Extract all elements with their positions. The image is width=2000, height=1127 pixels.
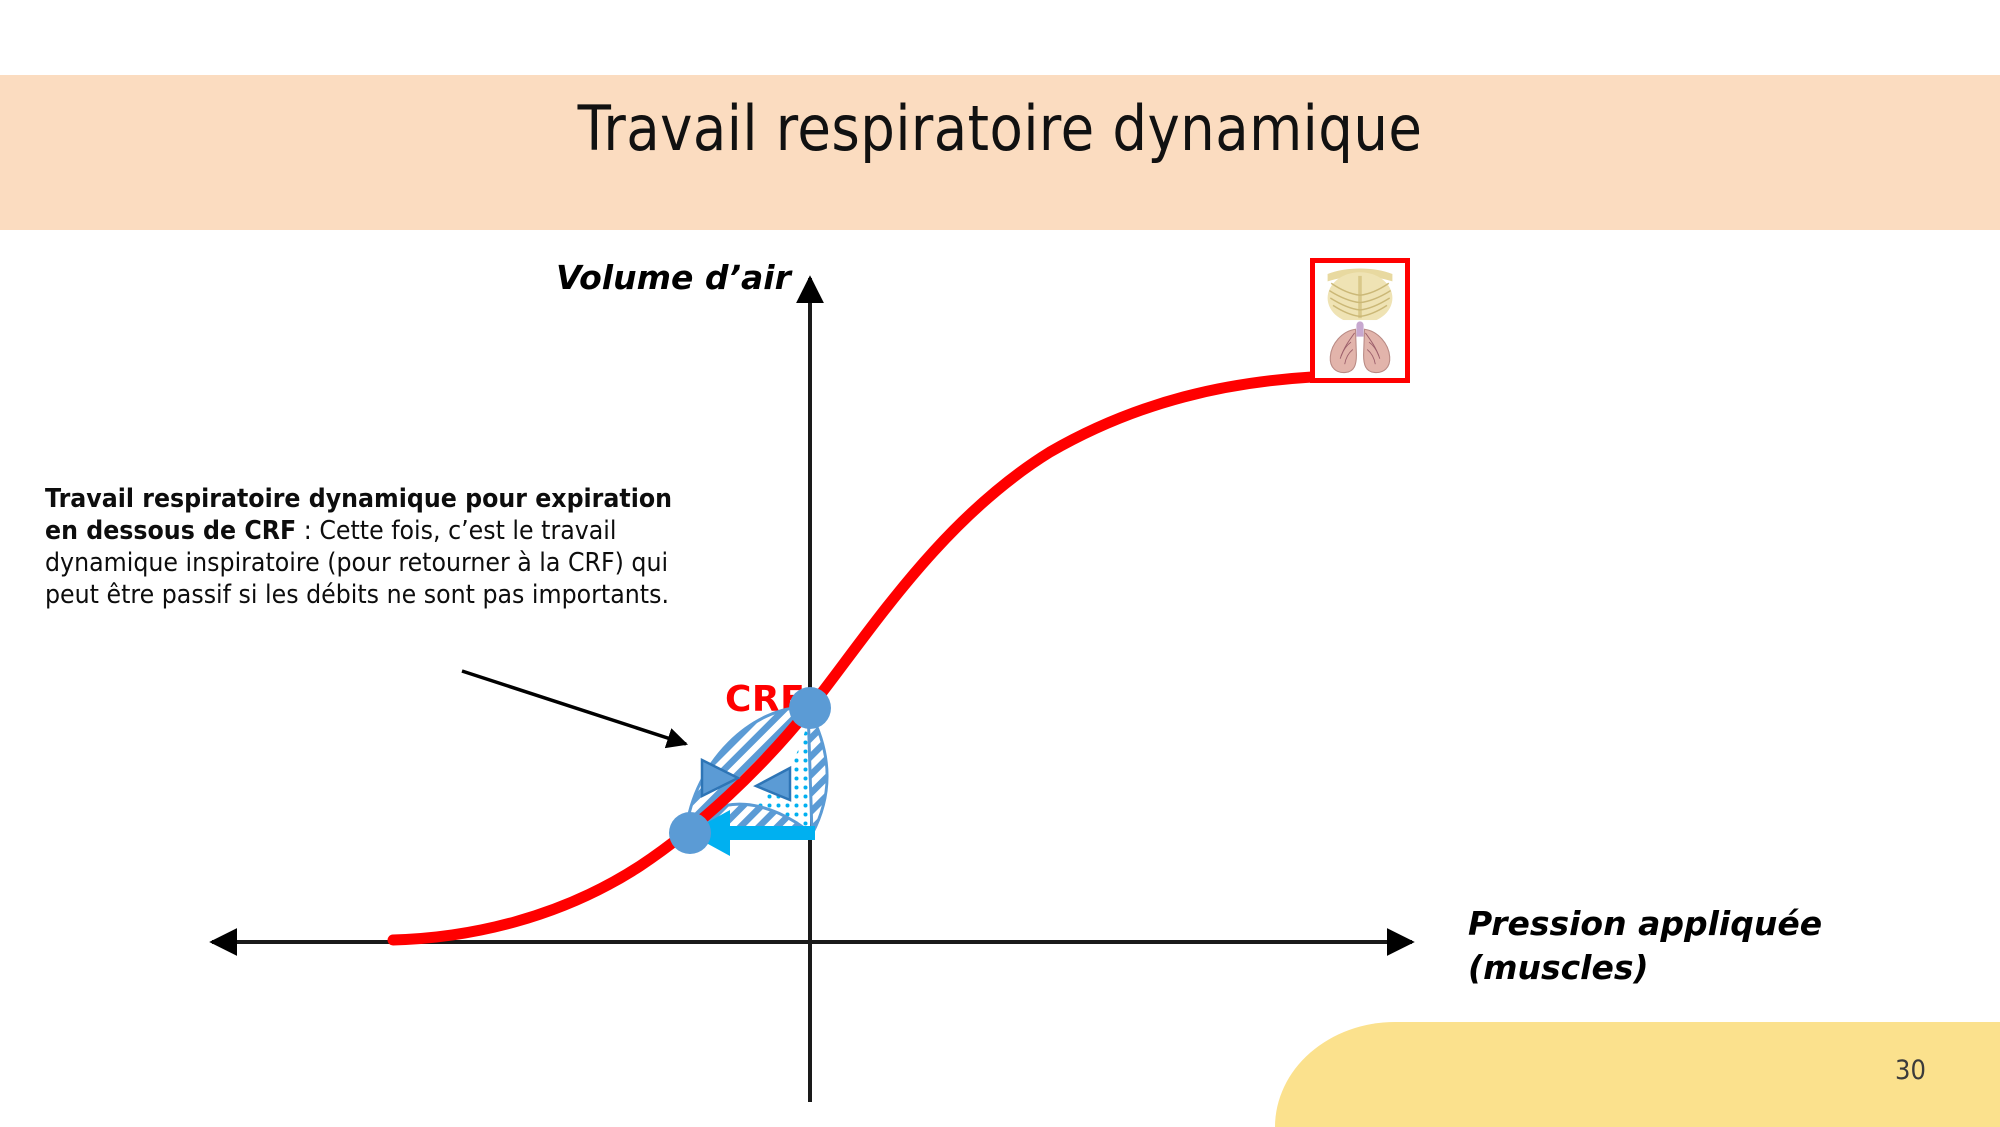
thorax-lungs-image bbox=[1310, 258, 1410, 383]
lower-volume-marker bbox=[669, 812, 711, 854]
chart-graphics bbox=[0, 0, 2000, 1125]
callout-arrow bbox=[462, 671, 686, 744]
slide-canvas: Travail respiratoire dynamique 30 Travai… bbox=[0, 0, 2000, 1125]
crf-marker-upper bbox=[789, 687, 831, 729]
pressure-volume-curve bbox=[393, 377, 1312, 940]
